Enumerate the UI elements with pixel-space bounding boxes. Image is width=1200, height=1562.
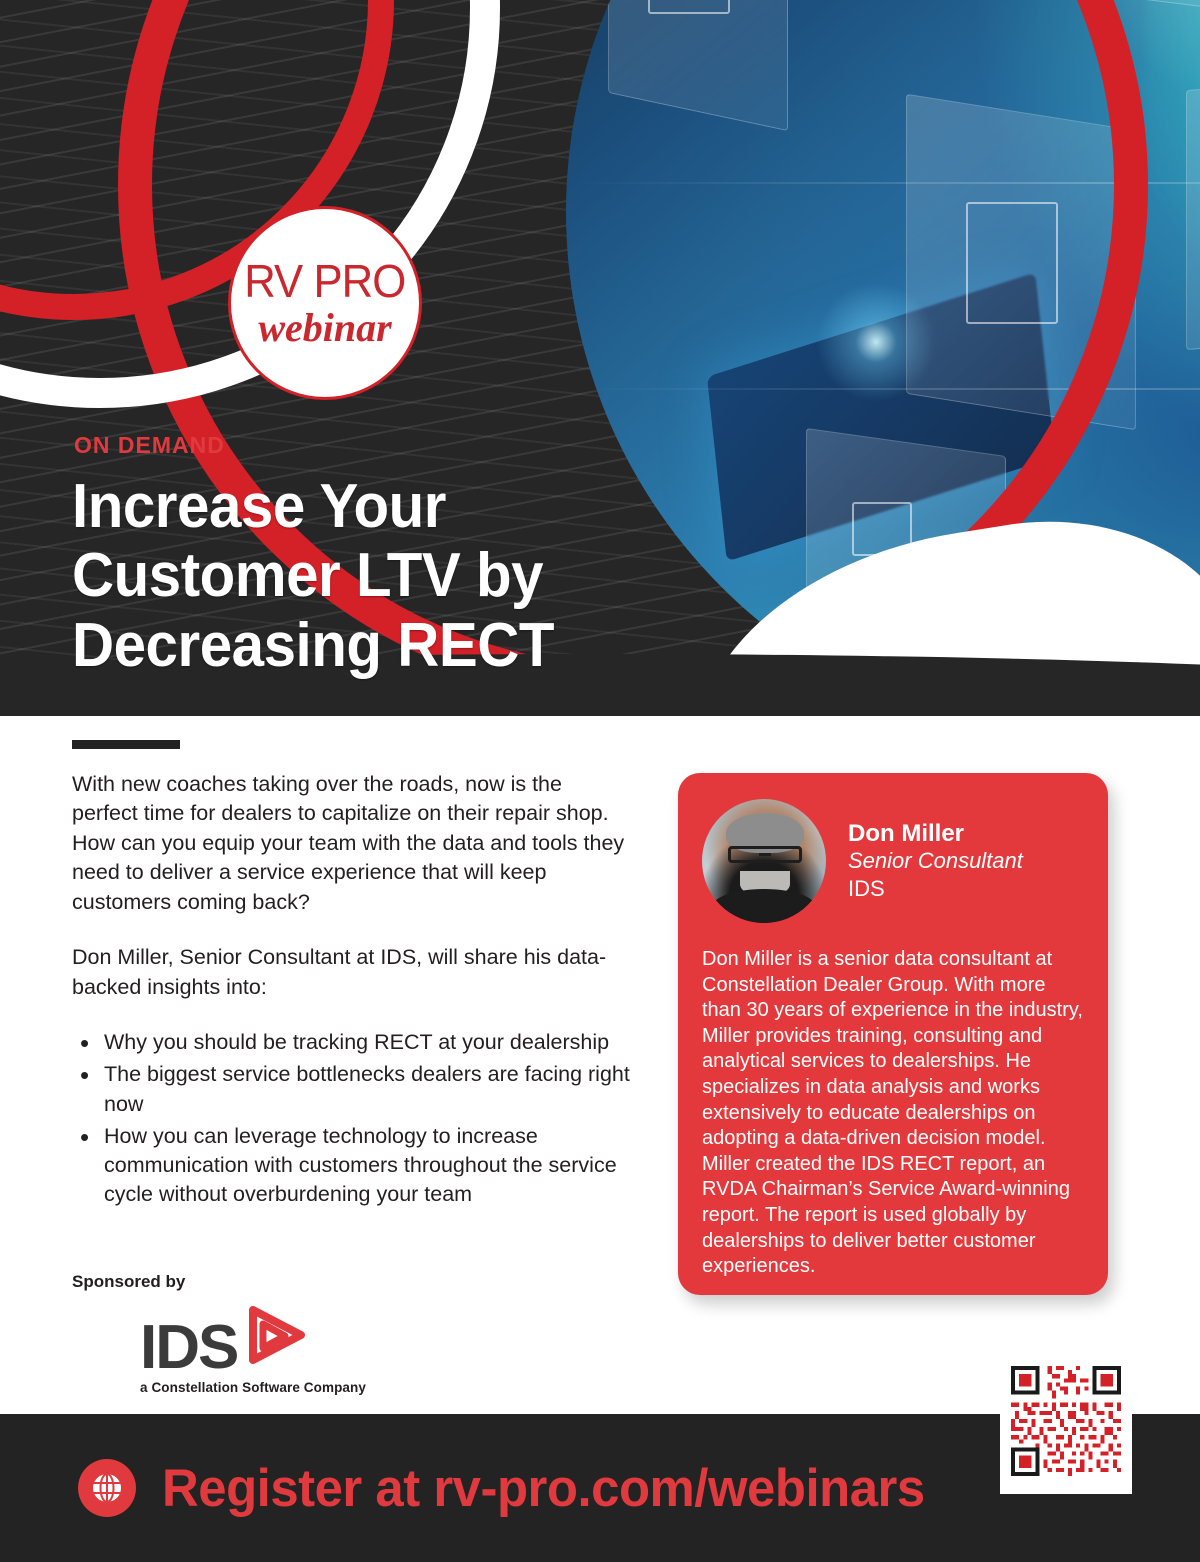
speaker-intro-paragraph: Don Miller, Senior Consultant at IDS, wi… <box>72 943 632 1002</box>
speaker-role: Senior Consultant <box>848 848 1023 874</box>
list-item: The biggest service bottlenecks dealers … <box>72 1060 632 1118</box>
logo-secondary-text: webinar <box>258 308 391 348</box>
title-line-1: Increase Your <box>72 472 554 541</box>
hero-kicker: ON DEMAND <box>74 432 225 459</box>
ids-logo: IDS <box>140 1306 366 1375</box>
list-item: Why you should be tracking RECT at your … <box>72 1028 632 1057</box>
title-line-3: Decreasing RECT <box>72 611 554 680</box>
ids-play-mark-icon <box>241 1306 307 1373</box>
intro-paragraph: With new coaches taking over the roads, … <box>72 770 632 917</box>
speaker-header: Don Miller Senior Consultant IDS <box>702 799 1084 923</box>
topics-list: Why you should be tracking RECT at your … <box>72 1028 632 1209</box>
page-title: Increase Your Customer LTV by Decreasing… <box>72 472 554 680</box>
qr-code-image <box>1007 1355 1125 1487</box>
sponsor-block: Sponsored by IDS a Constellation Softwar… <box>72 1272 366 1395</box>
speaker-bio: Don Miller is a senior data consultant a… <box>702 947 1084 1280</box>
speaker-organization: IDS <box>848 875 1023 903</box>
globe-icon <box>78 1459 136 1517</box>
section-divider <box>72 740 180 749</box>
avatar <box>702 799 826 923</box>
description-block: With new coaches taking over the roads, … <box>72 770 632 1213</box>
rvpro-webinar-logo: RV PRO webinar <box>228 206 422 400</box>
ids-wordmark: IDS <box>140 1322 237 1375</box>
logo-primary-text: RV PRO <box>244 258 405 304</box>
hero-banner: RV PRO webinar ON DEMAND Increase Your C… <box>0 0 1200 716</box>
qr-code[interactable] <box>1000 1348 1132 1494</box>
title-line-2: Customer LTV by <box>72 541 554 610</box>
avatar-shirt <box>712 889 816 923</box>
speaker-meta: Don Miller Senior Consultant IDS <box>848 820 1023 903</box>
ids-tagline: a Constellation Software Company <box>140 1380 366 1395</box>
avatar-glasses-bridge <box>759 853 771 856</box>
sponsor-label: Sponsored by <box>72 1272 366 1292</box>
list-item: How you can leverage technology to incre… <box>72 1122 632 1210</box>
register-cta[interactable]: Register at rv-pro.com/webinars <box>162 1458 925 1519</box>
hero-glass-card-monitor <box>1186 74 1200 350</box>
speaker-name: Don Miller <box>848 820 1023 849</box>
speaker-card: Don Miller Senior Consultant IDS Don Mil… <box>678 773 1108 1295</box>
